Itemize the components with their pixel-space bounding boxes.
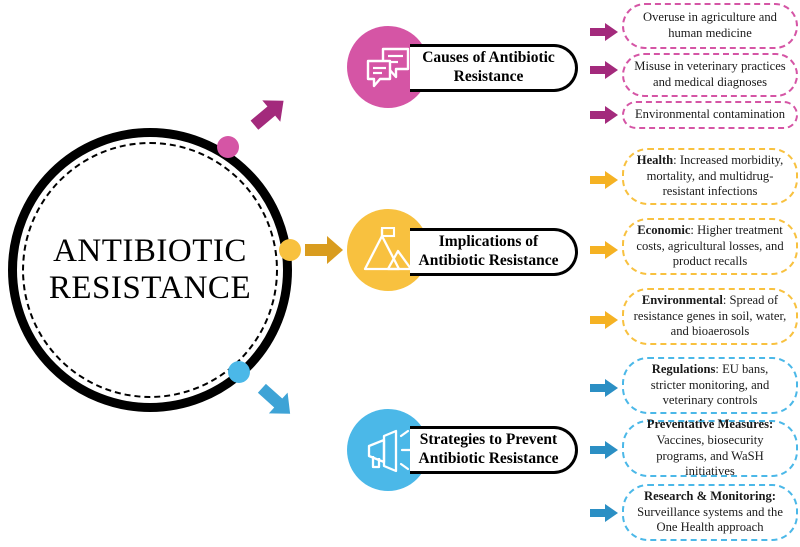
infographic-canvas: ANTIBIOTIC RESISTANCE: [0, 0, 800, 547]
hub-arrow-implications: [303, 227, 349, 273]
megaphone-icon: [362, 426, 414, 474]
detail-arrow-strategies-1: [590, 378, 618, 398]
detail-text: Environmental: Spread of resistance gene…: [633, 293, 787, 341]
detail-arrow-implications-3: [590, 310, 618, 330]
detail-box-causes-3[interactable]: Environmental contamination: [622, 101, 798, 129]
detail-text: Regulations: EU bans, stricter monitorin…: [633, 362, 787, 410]
detail-box-strategies-3[interactable]: Research & Monitoring: Surveillance syst…: [622, 484, 798, 541]
branch-title-causes[interactable]: Causes of Antibiotic Resistance: [410, 44, 578, 92]
detail-box-strategies-2[interactable]: Preventative Measures: Vaccines, biosecu…: [622, 420, 798, 477]
detail-arrow-causes-2: [590, 60, 618, 80]
node-dot-causes[interactable]: [217, 136, 239, 158]
detail-arrow-strategies-3: [590, 503, 618, 523]
detail-lead: Economic: [637, 223, 690, 237]
detail-box-causes-1[interactable]: Overuse in agriculture and human medicin…: [622, 3, 798, 49]
detail-lead: Preventative Measures:: [647, 417, 773, 431]
detail-lead: Health: [637, 153, 673, 167]
detail-lead: Regulations: [652, 362, 716, 376]
detail-text: Economic: Higher treatment costs, agricu…: [633, 223, 787, 271]
detail-box-implications-1[interactable]: Health: Increased morbidity, mortality, …: [622, 148, 798, 205]
detail-box-strategies-1[interactable]: Regulations: EU bans, stricter monitorin…: [622, 357, 798, 414]
node-dot-strategies[interactable]: [228, 361, 250, 383]
hub-arrow-causes: [246, 90, 292, 136]
speech-bubbles-icon: [364, 45, 412, 89]
detail-body: Surveillance systems and the One Health …: [637, 505, 783, 535]
detail-arrow-causes-1: [590, 22, 618, 42]
detail-text: Preventative Measures: Vaccines, biosecu…: [633, 417, 787, 480]
detail-body: Vaccines, biosecurity programs, and WaSH…: [656, 433, 764, 479]
node-dot-implications[interactable]: [279, 239, 301, 261]
detail-text: Overuse in agriculture and human medicin…: [633, 10, 787, 42]
detail-text: Misuse in veterinary practices and medic…: [633, 59, 787, 91]
detail-box-implications-3[interactable]: Environmental: Spread of resistance gene…: [622, 288, 798, 345]
detail-arrow-causes-3: [590, 105, 618, 125]
hub-arrow-strategies: [253, 378, 299, 424]
detail-arrow-implications-2: [590, 240, 618, 260]
detail-box-causes-2[interactable]: Misuse in veterinary practices and medic…: [622, 53, 798, 97]
hub-title: ANTIBIOTIC RESISTANCE: [8, 233, 292, 307]
mountain-flag-icon: [362, 227, 414, 273]
detail-lead: Research & Monitoring:: [644, 489, 776, 503]
detail-text: Environmental contamination: [635, 107, 785, 123]
branch-title-implications[interactable]: Implications of Antibiotic Resistance: [410, 228, 578, 276]
branch-title-strategies[interactable]: Strategies to Prevent Antibiotic Resista…: [410, 426, 578, 474]
detail-text: Research & Monitoring: Surveillance syst…: [633, 489, 787, 537]
detail-text: Health: Increased morbidity, mortality, …: [633, 153, 787, 201]
detail-lead: Environmental: [642, 293, 723, 307]
detail-arrow-strategies-2: [590, 440, 618, 460]
detail-box-implications-2[interactable]: Economic: Higher treatment costs, agricu…: [622, 218, 798, 275]
detail-arrow-implications-1: [590, 170, 618, 190]
